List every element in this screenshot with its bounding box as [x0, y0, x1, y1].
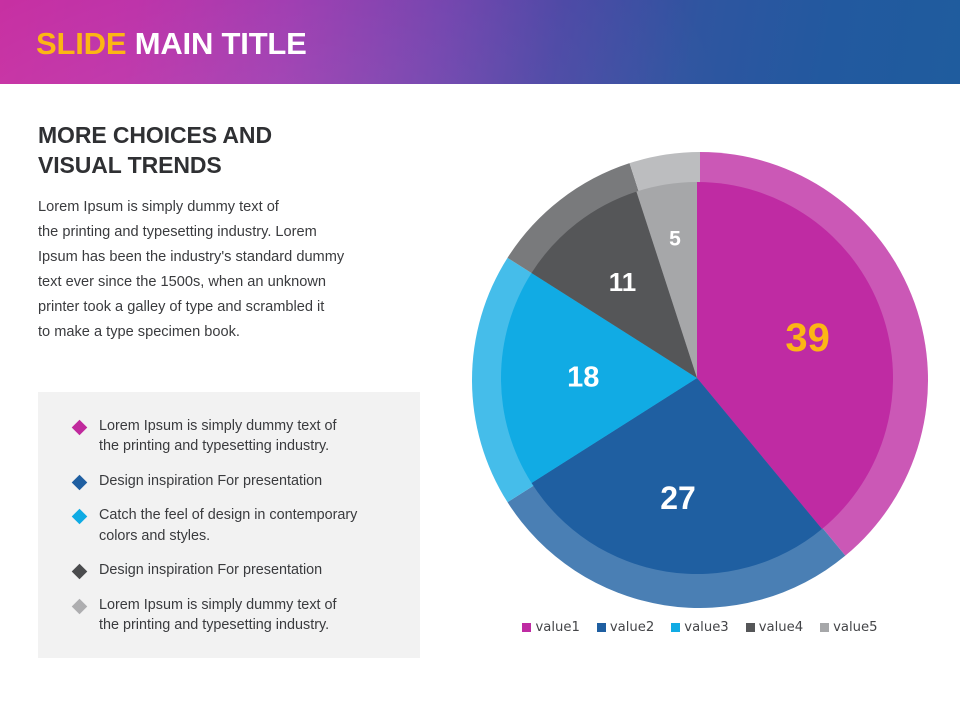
list-item-label: Lorem Ipsum is simply dummy text of the …: [99, 416, 337, 457]
page-title: SLIDE MAIN TITLE: [36, 28, 307, 59]
legend-item-label: value5: [833, 620, 877, 635]
legend-item-label: value1: [535, 620, 579, 635]
diamond-bullet-icon: [72, 564, 88, 580]
left-content-column: MORE CHOICES AND VISUAL TRENDS Lorem Ips…: [38, 120, 420, 345]
legend-item-value1[interactable]: value1: [522, 620, 579, 635]
diamond-bullet-icon: [72, 475, 88, 491]
list-item[interactable]: Lorem Ipsum is simply dummy text of the …: [58, 595, 398, 636]
legend-item-label: value4: [759, 620, 803, 635]
list-item-label: Lorem Ipsum is simply dummy text of the …: [99, 595, 337, 636]
legend-item-value4[interactable]: value4: [746, 620, 803, 635]
diamond-bullet-icon: [72, 420, 88, 436]
list-item-label: Catch the feel of design in contemporary…: [99, 505, 357, 546]
diamond-bullet-icon: [72, 509, 88, 525]
pie-chart-svg: [455, 140, 945, 640]
legend-swatch-icon: [746, 623, 755, 632]
diamond-bullet-icon: [72, 598, 88, 614]
list-item[interactable]: Catch the feel of design in contemporary…: [58, 505, 398, 546]
page-title-accent: SLIDE: [36, 26, 126, 61]
legend-item-value2[interactable]: value2: [597, 620, 654, 635]
list-item[interactable]: Design inspiration For presentation: [58, 560, 398, 580]
list-item-label: Design inspiration For presentation: [99, 560, 322, 580]
legend-swatch-icon: [522, 623, 531, 632]
body-paragraph: Lorem Ipsum is simply dummy text of the …: [38, 195, 420, 346]
legend-item-value5[interactable]: value5: [820, 620, 877, 635]
list-item-label: Design inspiration For presentation: [99, 471, 322, 491]
legend-item-label: value2: [610, 620, 654, 635]
page-title-main: MAIN TITLE: [135, 26, 307, 61]
list-item[interactable]: Design inspiration For presentation: [58, 471, 398, 491]
section-heading: MORE CHOICES AND VISUAL TRENDS: [38, 120, 420, 181]
slide-header-bar: SLIDE MAIN TITLE: [0, 0, 960, 84]
legend-item-value3[interactable]: value3: [671, 620, 728, 635]
bullet-list-panel: Lorem Ipsum is simply dummy text of the …: [38, 392, 420, 658]
legend-swatch-icon: [820, 623, 829, 632]
chart-legend: value1value2value3value4value5: [455, 620, 945, 635]
legend-item-label: value3: [684, 620, 728, 635]
pie-chart: 392718115: [455, 140, 945, 640]
legend-swatch-icon: [597, 623, 606, 632]
list-item[interactable]: Lorem Ipsum is simply dummy text of the …: [58, 416, 398, 457]
legend-swatch-icon: [671, 623, 680, 632]
